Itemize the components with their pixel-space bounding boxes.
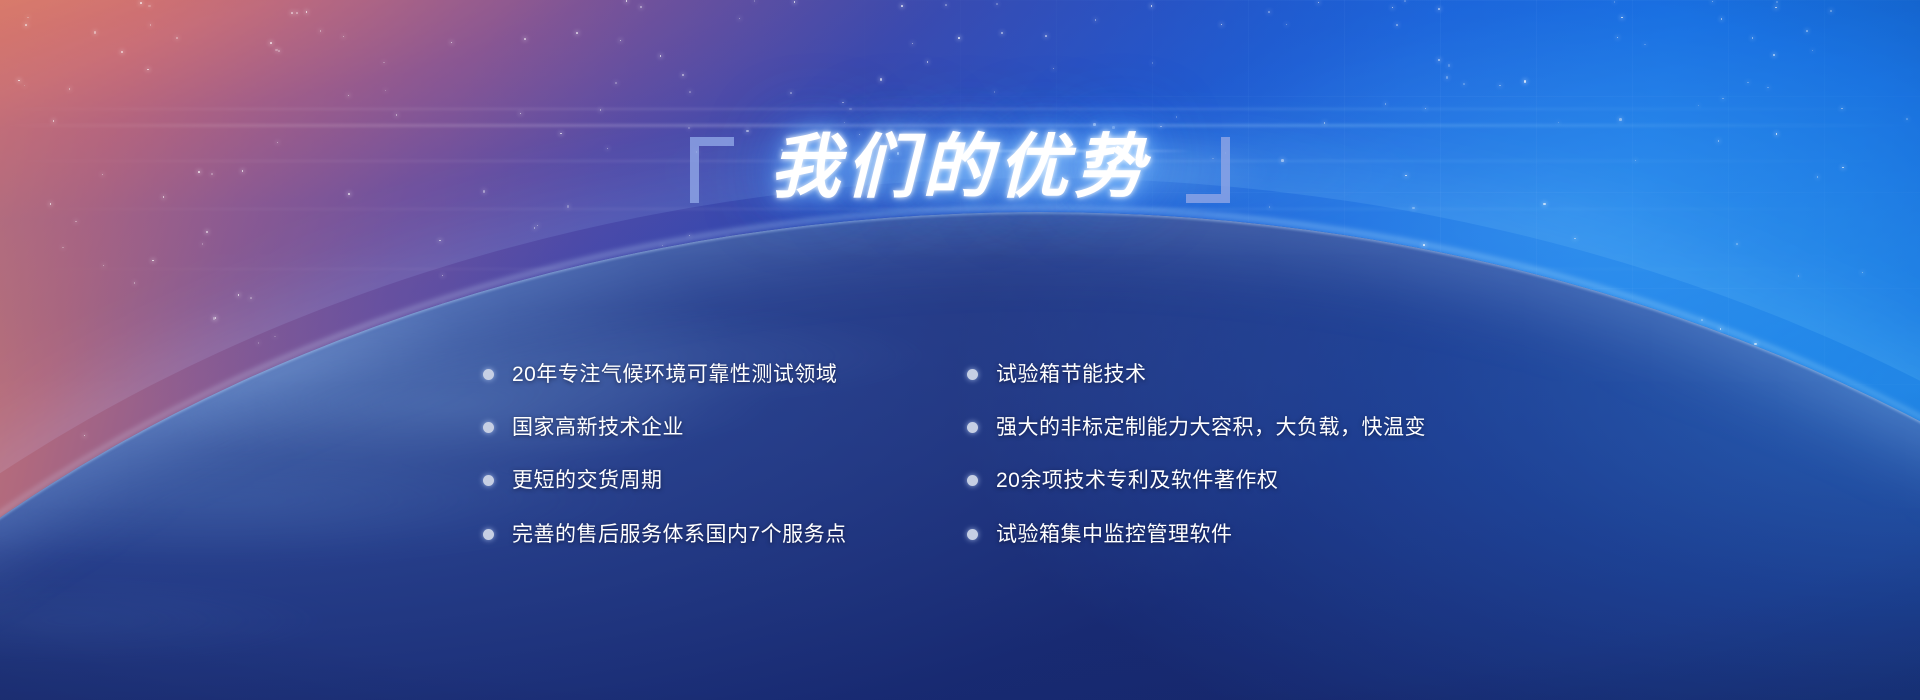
- advantages-hero-banner: 我们的优势 20年专注气候环境可靠性测试领域 国家高新技术企业 更短的交货周期 …: [0, 0, 1920, 700]
- vignette-overlay: [0, 0, 1920, 700]
- page-title: 我们的优势: [760, 128, 1160, 212]
- bracket-left-icon: [690, 137, 734, 203]
- headline-group: 我们的优势: [0, 128, 1920, 212]
- bullet-dot-icon: [483, 369, 494, 380]
- list-item-label: 试验箱节能技术: [996, 362, 1147, 387]
- list-item-label: 完善的售后服务体系国内7个服务点: [512, 522, 847, 547]
- list-item: 20余项技术专利及软件著作权: [967, 468, 1437, 493]
- bullet-dot-icon: [483, 422, 494, 433]
- list-item-label: 强大的非标定制能力大容积，大负载，快温变: [996, 415, 1426, 440]
- bullet-dot-icon: [483, 475, 494, 486]
- advantages-column-right: 试验箱节能技术 强大的非标定制能力大容积，大负载，快温变 20余项技术专利及软件…: [967, 362, 1437, 547]
- bullet-dot-icon: [483, 529, 494, 540]
- list-item: 试验箱节能技术: [967, 362, 1437, 387]
- list-item-label: 20余项技术专利及软件著作权: [996, 468, 1278, 493]
- bullet-dot-icon: [967, 422, 978, 433]
- list-item: 国家高新技术企业: [483, 415, 903, 440]
- bullet-dot-icon: [967, 529, 978, 540]
- list-item: 20年专注气候环境可靠性测试领域: [483, 362, 903, 387]
- list-item-label: 试验箱集中监控管理软件: [996, 522, 1233, 547]
- list-item: 更短的交货周期: [483, 468, 903, 493]
- bullet-dot-icon: [967, 475, 978, 486]
- bullet-dot-icon: [967, 369, 978, 380]
- list-item-label: 更短的交货周期: [512, 468, 663, 493]
- list-item: 强大的非标定制能力大容积，大负载，快温变: [967, 415, 1437, 440]
- list-item-label: 20年专注气候环境可靠性测试领域: [512, 362, 837, 387]
- advantages-column-left: 20年专注气候环境可靠性测试领域 国家高新技术企业 更短的交货周期 完善的售后服…: [483, 362, 903, 547]
- list-item: 完善的售后服务体系国内7个服务点: [483, 522, 903, 547]
- bracket-right-icon: [1186, 137, 1230, 203]
- list-item-label: 国家高新技术企业: [512, 415, 684, 440]
- advantages-list: 20年专注气候环境可靠性测试领域 国家高新技术企业 更短的交货周期 完善的售后服…: [0, 362, 1920, 547]
- list-item: 试验箱集中监控管理软件: [967, 522, 1437, 547]
